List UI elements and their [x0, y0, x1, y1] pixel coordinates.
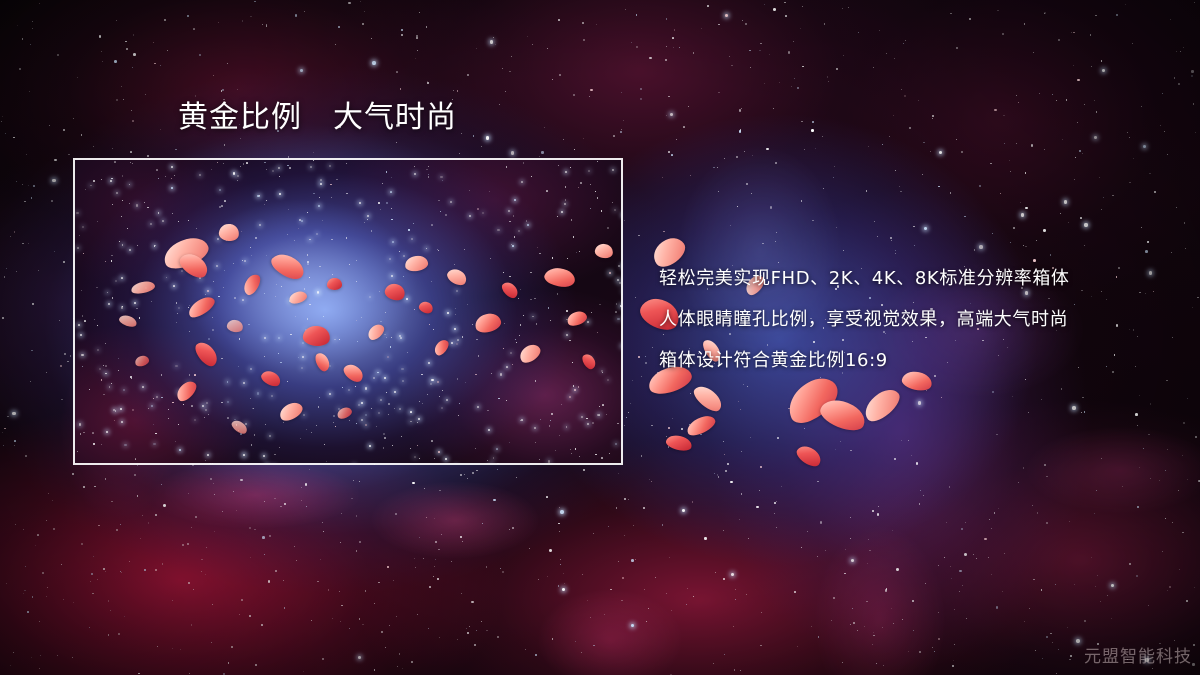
- flower-petal: [327, 278, 342, 290]
- watermark-label: 元盟智能科技: [1084, 642, 1192, 667]
- body-line-3: 箱体设计符合黄金比例16:9: [659, 340, 1159, 381]
- page-title: 黄金比例 大气时尚: [178, 100, 457, 136]
- presentation-slide: 黄金比例 大气时尚 轻松完美实现FHD、2K、4K、8K标准分辨率箱体 人体眼睛…: [0, 0, 1200, 675]
- framed-image-panel: [73, 158, 623, 465]
- flower-petal: [684, 412, 718, 439]
- panel-starfield: [75, 160, 621, 463]
- flower-petal: [860, 384, 905, 427]
- flower-petal: [794, 442, 825, 470]
- flower-petal: [690, 382, 725, 416]
- body-copy-block: 轻松完美实现FHD、2K、4K、8K标准分辨率箱体 人体眼睛瞳孔比例，享受视觉效…: [659, 258, 1159, 381]
- body-line-1: 轻松完美实现FHD、2K、4K、8K标准分辨率箱体: [659, 258, 1159, 299]
- body-line-2: 人体眼睛瞳孔比例，享受视觉效果，高端大气时尚: [659, 299, 1159, 340]
- flower-petal: [665, 433, 694, 453]
